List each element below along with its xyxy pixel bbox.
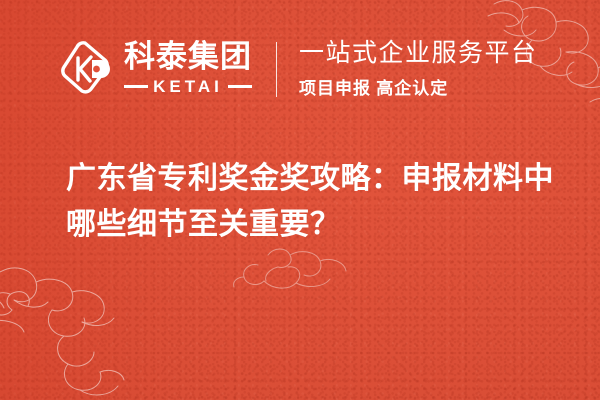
cloud-pattern-bottom-left-icon — [0, 246, 174, 400]
slogan-block: 一站式企业服务平台 项目申报 高企认定 — [299, 39, 538, 100]
headline-title: 广东省专利奖金奖攻略：申报材料中哪些细节至关重要？ — [66, 156, 566, 247]
brand-name-en-row: KETAI — [124, 77, 252, 97]
slogan-sub-text: 项目申报 高企认定 — [299, 74, 538, 99]
slogan-main-text: 一站式企业服务平台 — [299, 39, 538, 68]
wordmark-rule-left — [124, 85, 148, 88]
brand-name-en: KETAI — [153, 77, 223, 97]
promo-banner: 科泰集团 KETAI 一站式企业服务平台 项目申报 高企认定 广东省专利奖金奖攻… — [0, 0, 600, 400]
brand-wordmark: 科泰集团 KETAI — [124, 41, 252, 97]
brand-name-cn: 科泰集团 — [124, 41, 252, 74]
header-divider — [276, 42, 277, 97]
cloud-pattern-middle-icon — [228, 243, 348, 298]
ketai-diamond-monogram-icon — [58, 38, 114, 100]
wordmark-rule-right — [228, 85, 252, 88]
banner-header: 科泰集团 KETAI 一站式企业服务平台 项目申报 高企认定 — [58, 38, 538, 100]
brand-logo[interactable]: 科泰集团 KETAI — [58, 38, 252, 100]
